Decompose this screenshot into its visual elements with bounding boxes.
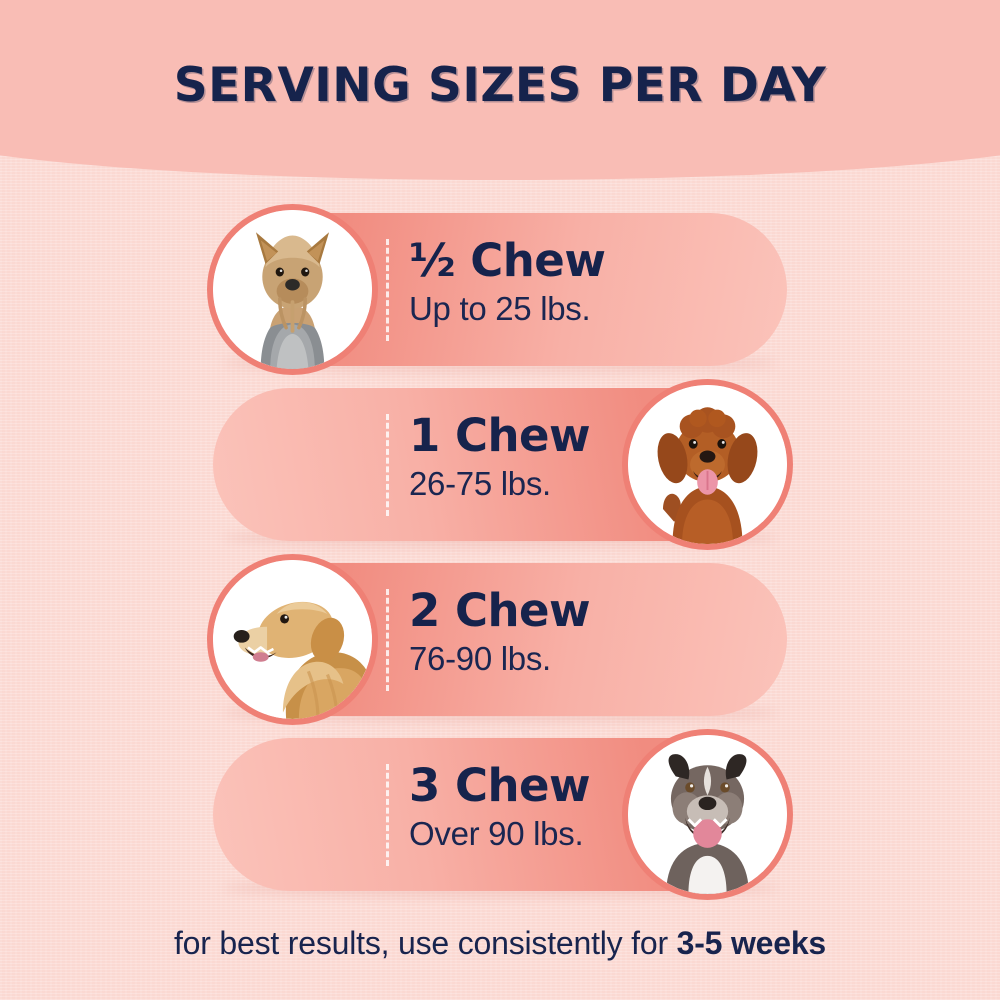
footer-note-plain: for best results, use consistently for — [174, 925, 677, 961]
serving-weight-range: Up to 25 lbs. — [409, 291, 739, 327]
serving-row-half-chew[interactable]: ½ Chew Up to 25 lbs. — [213, 213, 787, 366]
serving-amount: ½ Chew — [409, 237, 739, 284]
dog-photo-goldendoodle — [622, 379, 793, 550]
serving-row-three-chew[interactable]: 3 Chew Over 90 lbs. — [213, 738, 787, 891]
footer-note: for best results, use consistently for 3… — [0, 925, 1000, 962]
dashed-divider — [386, 414, 389, 516]
serving-amount: 2 Chew — [409, 587, 739, 634]
serving-text-block: 2 Chew 76-90 lbs. — [409, 587, 739, 678]
dashed-divider — [386, 764, 389, 866]
serving-text-block: ½ Chew Up to 25 lbs. — [409, 237, 739, 328]
serving-size-infographic: SERVING SIZES PER DAY ½ Chew Up to 25 lb… — [0, 0, 1000, 1000]
dog-photo-yorkshire-terrier — [207, 204, 378, 375]
dog-photo-pit-bull — [622, 729, 793, 900]
serving-row-one-chew[interactable]: 1 Chew 26-75 lbs. — [213, 388, 787, 541]
dashed-divider — [386, 239, 389, 341]
footer-note-bold: 3-5 weeks — [677, 925, 826, 961]
page-title: SERVING SIZES PER DAY — [0, 58, 1000, 113]
dashed-divider — [386, 589, 389, 691]
serving-row-two-chew[interactable]: 2 Chew 76-90 lbs. — [213, 563, 787, 716]
dog-photo-golden-retriever — [207, 554, 378, 725]
serving-weight-range: 76-90 lbs. — [409, 641, 739, 677]
